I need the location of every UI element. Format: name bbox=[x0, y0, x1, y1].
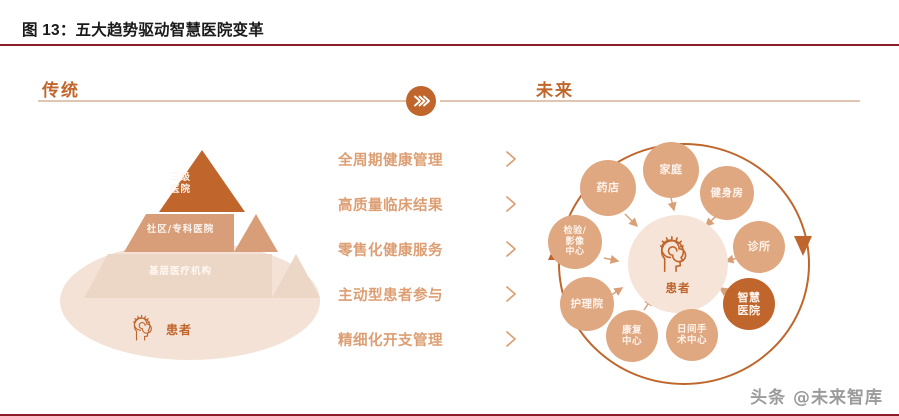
pyramid-tier-bottom-right bbox=[272, 254, 320, 298]
trend-item-3[interactable]: 零售化健康服务 bbox=[338, 236, 518, 262]
trend-label: 高质量临床结果 bbox=[338, 194, 443, 215]
ecosystem-node-rehab-center[interactable]: 康复 中心 bbox=[606, 310, 658, 362]
figure-header: 图 13：五大趋势驱动智慧医院变革 bbox=[0, 18, 899, 54]
pyramid-tier-bottom-label: 基层医疗机构 bbox=[118, 266, 243, 278]
page-title: 图 13：五大趋势驱动智慧医院变革 bbox=[22, 18, 264, 40]
pyramid-tier-middle-label: 社区/专科医院 bbox=[118, 224, 243, 236]
figure-page: 图 13：五大趋势驱动智慧医院变革 传统 未来 基层医疗机构 社区/专科医院 bbox=[0, 0, 899, 416]
axis-line-right bbox=[440, 100, 860, 102]
timeline-axis: 传统 未来 bbox=[0, 70, 899, 118]
trend-label: 主动型患者参与 bbox=[338, 284, 443, 305]
ecosystem-diagram: 患者 家庭 健身房 诊所 智慧 医院 日间手 术中心 康复 中心 护理院 检验/… bbox=[540, 138, 840, 388]
ecosystem-node-clinic[interactable]: 诊所 bbox=[733, 221, 785, 273]
trend-item-2[interactable]: 高质量临床结果 bbox=[338, 191, 518, 217]
double-chevron-right-icon bbox=[406, 86, 436, 116]
header-divider bbox=[0, 44, 899, 46]
ecosystem-center-patient: 患者 bbox=[628, 215, 728, 313]
ecosystem-node-pharmacy[interactable]: 药店 bbox=[580, 160, 636, 216]
pyramid-patient-label: 患者 bbox=[166, 321, 192, 338]
chevron-right-icon bbox=[504, 329, 518, 349]
ecosystem-node-family[interactable]: 家庭 bbox=[643, 142, 699, 198]
ecosystem-node-smart-hospital[interactable]: 智慧 医院 bbox=[723, 278, 775, 330]
patient-head-spiral-icon bbox=[132, 312, 160, 347]
ring-flow-arrow-icon bbox=[792, 234, 814, 260]
trend-item-5[interactable]: 精细化开支管理 bbox=[338, 326, 518, 352]
trend-label: 零售化健康服务 bbox=[338, 239, 443, 260]
trend-label: 精细化开支管理 bbox=[338, 329, 443, 350]
chevron-right-icon bbox=[504, 194, 518, 214]
ecosystem-node-day-surgery-center[interactable]: 日间手 术中心 bbox=[666, 309, 718, 361]
trend-item-4[interactable]: 主动型患者参与 bbox=[338, 281, 518, 307]
trend-item-1[interactable]: 全周期健康管理 bbox=[338, 146, 518, 172]
watermark: 头条 @未来智库 bbox=[750, 383, 883, 408]
chevron-right-icon bbox=[504, 239, 518, 259]
axis-label-traditional: 传统 bbox=[42, 76, 80, 101]
pyramid-tier-top-label: 三级 医院 bbox=[118, 172, 243, 196]
trend-label: 全周期健康管理 bbox=[338, 149, 443, 170]
pyramid-patient: 患者 bbox=[132, 312, 252, 346]
hierarchy-pyramid: 基层医疗机构 社区/专科医院 三级 医院 患者 bbox=[60, 150, 320, 365]
axis-line-left bbox=[38, 100, 418, 102]
patient-head-spiral-icon bbox=[658, 232, 698, 279]
ecosystem-node-lab-imaging-center[interactable]: 检验/ 影像 中心 bbox=[548, 215, 602, 269]
ecosystem-node-nursing-home[interactable]: 护理院 bbox=[560, 277, 614, 331]
axis-label-future: 未来 bbox=[536, 76, 574, 101]
ecosystem-node-gym[interactable]: 健身房 bbox=[700, 166, 754, 220]
trends-list: 全周期健康管理 高质量临床结果 零售化健康服务 主动型患者参与 精细化开支管理 bbox=[338, 146, 528, 366]
chevron-right-icon bbox=[504, 149, 518, 169]
chevron-right-icon bbox=[504, 284, 518, 304]
ecosystem-center-label: 患者 bbox=[666, 280, 691, 296]
